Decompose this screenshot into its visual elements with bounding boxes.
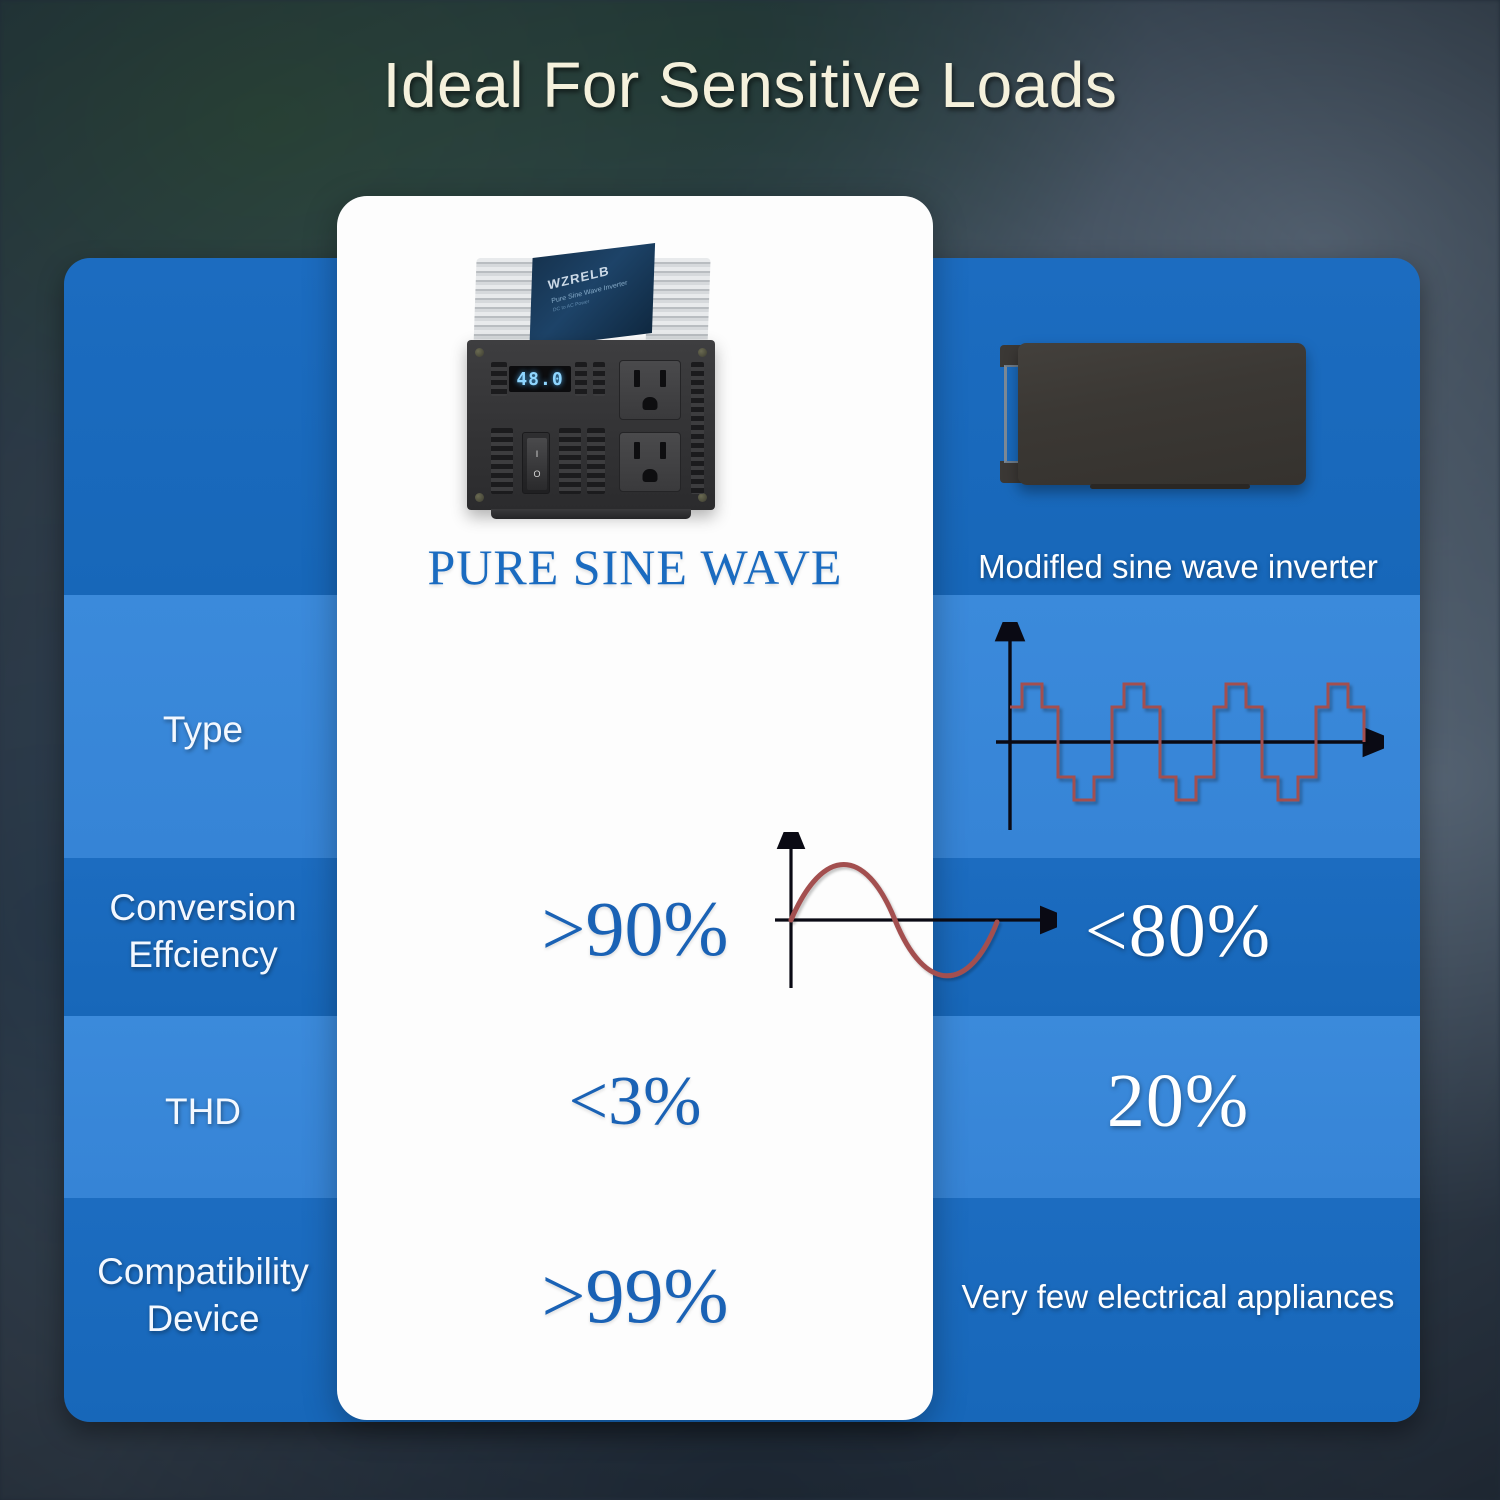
infographic-page: Ideal For Sensitive Loads Type Conversio… <box>0 0 1500 1500</box>
inverter-base <box>1090 484 1250 489</box>
vent-slots <box>491 362 507 396</box>
outlet-ground-pin <box>643 469 658 482</box>
row-label-conversion-line1: Conversion <box>64 884 342 931</box>
modified-sine-inverter-image <box>1000 343 1306 485</box>
inverter-brand-label: WZRELB Pure Sine Wave Inverter DC to AC … <box>529 243 655 348</box>
card-value-conversion-efficiency: >90% <box>337 884 933 974</box>
pure-sine-inverter-image: WZRELB Pure Sine Wave Inverter DC to AC … <box>467 258 715 520</box>
voltage-display: 48.0 <box>509 366 571 392</box>
outlet-slot-right <box>660 442 666 459</box>
right-value-thd: 20% <box>936 1058 1420 1145</box>
modified-sine-waveform-chart <box>984 622 1384 842</box>
row-label-compatibility-line2: Device <box>64 1295 342 1342</box>
inverter-heatsink-top: WZRELB Pure Sine Wave Inverter DC to AC … <box>473 258 710 348</box>
vent-slots <box>593 362 605 396</box>
pure-sine-wave-card: WZRELB Pure Sine Wave Inverter DC to AC … <box>337 196 933 1420</box>
right-column-header: Modifled sine wave inverter <box>936 548 1420 586</box>
heatsink-fins-left <box>473 258 534 348</box>
card-title: PURE SINE WAVE <box>337 538 933 596</box>
row-label-type: Type <box>64 706 342 753</box>
panel-screw <box>698 493 707 502</box>
inverter-front-panel: 48.0 I O <box>467 340 715 510</box>
switch-on-label: I <box>536 449 539 459</box>
card-value-compatibility-device: >99% <box>337 1251 933 1341</box>
heatsink-fins-right <box>645 258 710 348</box>
power-rocker-switch[interactable]: I O <box>522 432 550 494</box>
inverter-body <box>1018 343 1306 485</box>
vent-slots <box>691 362 704 494</box>
row-label-thd: THD <box>64 1088 342 1135</box>
ac-outlet-bottom <box>619 432 681 492</box>
right-value-compatibility-device: Very few electrical appliances <box>936 1278 1420 1316</box>
vent-slots <box>559 428 581 494</box>
rocker-key[interactable]: I O <box>527 438 547 490</box>
panel-screw <box>475 348 484 357</box>
vent-slots <box>575 362 587 396</box>
row-label-compatibility-device: Compatibility Device <box>64 1248 342 1343</box>
vent-slots <box>587 428 605 494</box>
inverter-mounting-foot <box>491 509 691 519</box>
outlet-ground-pin <box>643 397 658 410</box>
outlet-slot-right <box>660 370 666 387</box>
row-label-type-text: Type <box>64 706 342 753</box>
outlet-slot-left <box>634 370 640 387</box>
voltage-display-value: 48.0 <box>516 369 563 390</box>
card-value-thd: <3% <box>337 1062 933 1142</box>
vent-slots <box>491 428 513 494</box>
panel-screw <box>698 348 707 357</box>
outlet-slot-left <box>634 442 640 459</box>
page-title: Ideal For Sensitive Loads <box>0 48 1500 122</box>
row-label-conversion-line2: Effciency <box>64 931 342 978</box>
ac-outlet-top <box>619 360 681 420</box>
row-label-thd-text: THD <box>64 1088 342 1135</box>
panel-screw <box>475 493 484 502</box>
row-label-compatibility-line1: Compatibility <box>64 1248 342 1295</box>
row-label-conversion-efficiency: Conversion Effciency <box>64 884 342 979</box>
switch-off-label: O <box>533 469 540 479</box>
